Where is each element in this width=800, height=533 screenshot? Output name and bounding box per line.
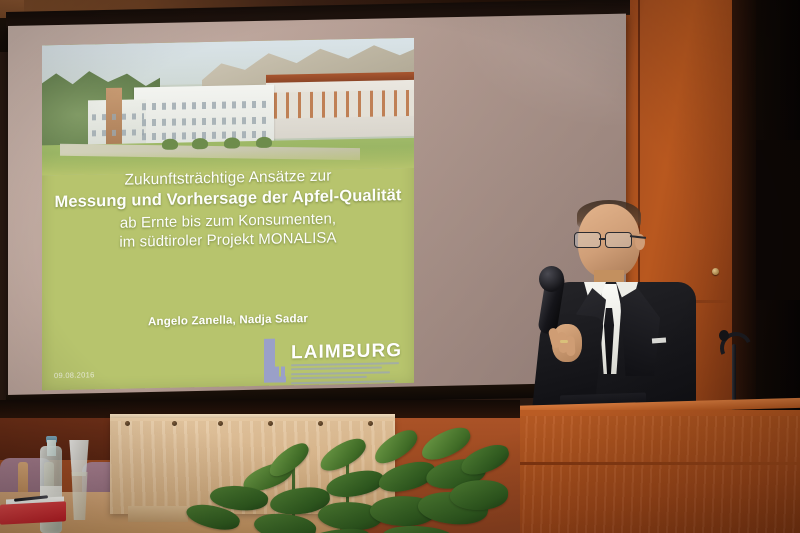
leaf	[325, 468, 386, 500]
slide-photo-building	[42, 38, 414, 175]
panel-tack	[218, 421, 223, 426]
panel-tack	[172, 421, 177, 426]
screen-fold-highlight	[446, 14, 626, 138]
castle-tower-icon	[262, 336, 288, 383]
glasses-temple	[630, 235, 646, 238]
microphone-head	[539, 266, 564, 292]
wooden-lectern	[508, 410, 800, 533]
slide-authors: Angelo Zanella, Nadja Sadar	[42, 311, 414, 330]
potted-plant	[150, 430, 510, 533]
hedge	[162, 139, 178, 150]
logo-subtext	[291, 362, 399, 390]
slide-title-block: Zukunftsträchtige Ansätze zur Messung un…	[42, 166, 414, 254]
gooseneck-capsule	[719, 330, 729, 341]
projected-slide: Zukunftsträchtige Ansätze zur Messung un…	[42, 38, 414, 390]
panel-tack	[368, 421, 373, 426]
laimburg-logo: LAIMBURG	[262, 334, 402, 385]
red-notebook	[0, 501, 66, 524]
lens-right	[605, 232, 632, 248]
leaf	[316, 434, 371, 476]
window-row	[92, 113, 144, 120]
panel-tack	[318, 421, 323, 426]
panel-tack	[268, 421, 273, 426]
panel-tack	[125, 421, 130, 426]
hedge	[224, 137, 240, 148]
window-row	[92, 129, 144, 136]
building-colonnade	[274, 90, 414, 119]
hedge	[256, 137, 272, 148]
lens-left	[574, 232, 601, 248]
slide-date: 09.08.2016	[54, 370, 95, 380]
lectern-groove	[514, 462, 800, 465]
logo-wordmark: LAIMBURG	[291, 340, 402, 364]
eyeglasses-icon	[574, 232, 644, 246]
finger-ring	[560, 340, 568, 343]
hedge	[192, 138, 208, 149]
glasses-bridge	[599, 238, 605, 240]
pocket-square	[652, 338, 666, 344]
finger	[565, 336, 575, 356]
leaf	[449, 479, 508, 511]
presentation-photo-scene: Zukunftsträchtige Ansätze zur Messung un…	[0, 0, 800, 533]
dark-panel	[756, 140, 800, 300]
